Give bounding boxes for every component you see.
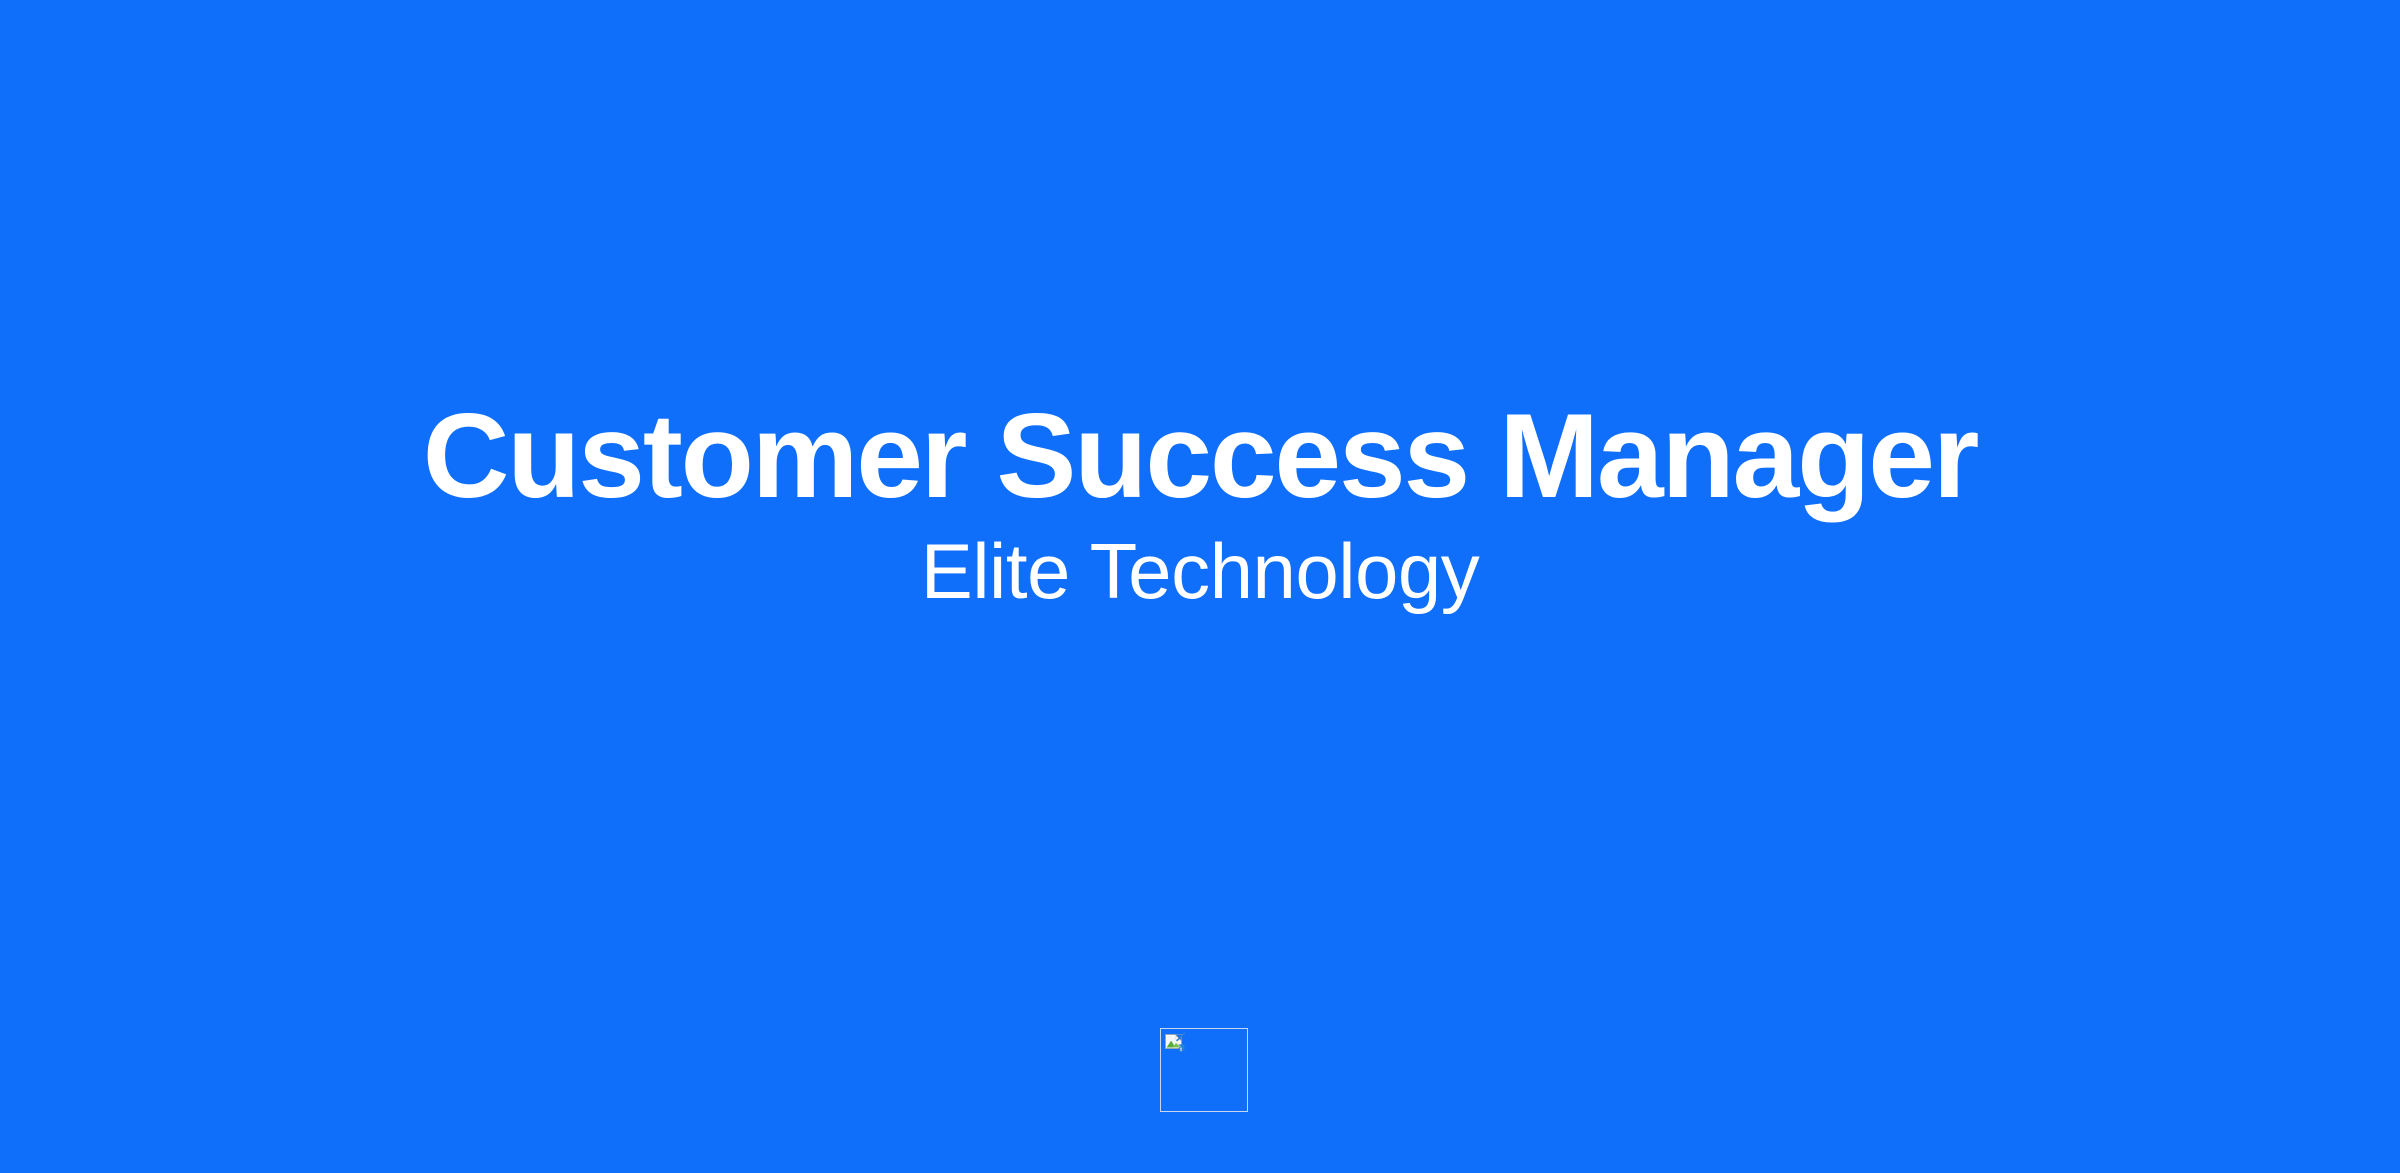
broken-image-icon	[1164, 1032, 1186, 1054]
page-title: Customer Success Manager	[0, 396, 2400, 516]
company-logo-placeholder	[1160, 1028, 1248, 1112]
company-subtitle: Elite Technology	[0, 516, 2400, 610]
title-slide: Customer Success Manager Elite Technolog…	[0, 0, 2400, 1173]
hero-text-block: Customer Success Manager Elite Technolog…	[0, 0, 2400, 610]
